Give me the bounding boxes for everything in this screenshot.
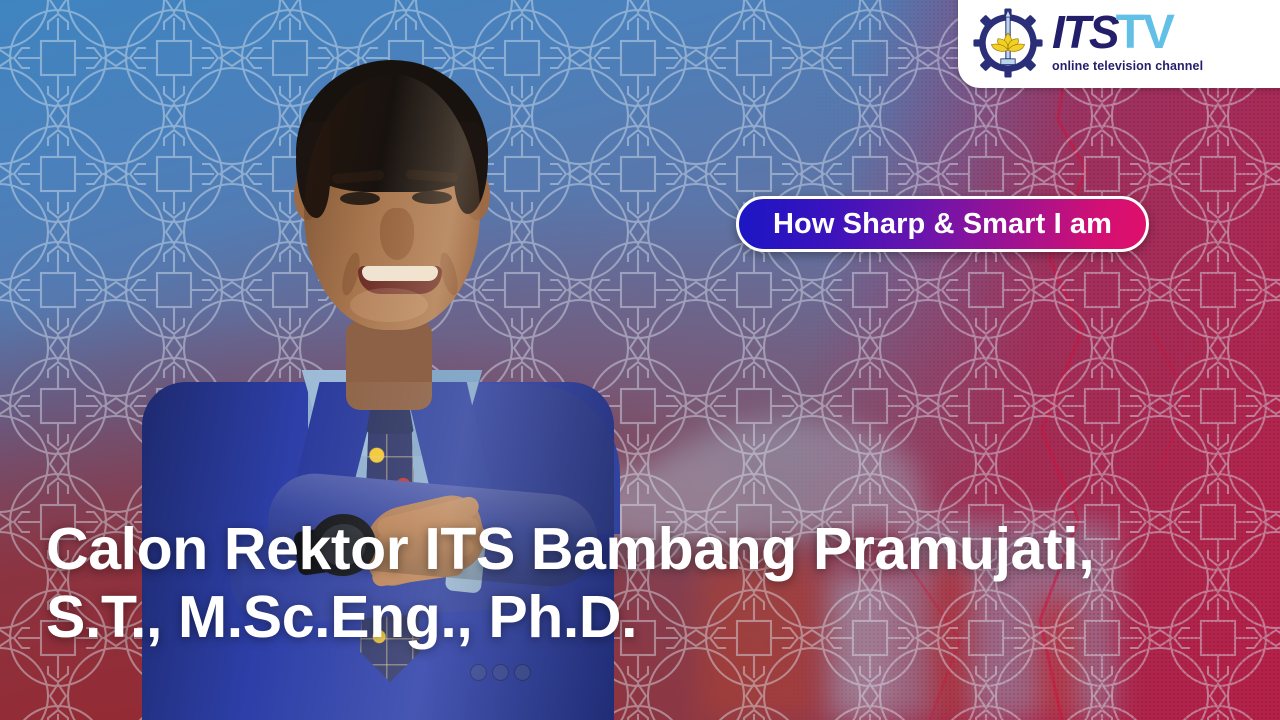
headline-badge: How Sharp & Smart I am: [736, 196, 1149, 252]
its-gear-lotus-emblem: [972, 7, 1044, 79]
logo-its-text: ITS: [1052, 9, 1118, 55]
badge-label: How Sharp & Smart I am: [773, 208, 1112, 241]
title-line-2: S.T., M.Sc.Eng., Ph.D.: [46, 584, 1236, 652]
logo-tv-text: TV: [1116, 9, 1173, 57]
title-line-1: Calon Rektor ITS Bambang Pramujati,: [46, 516, 1236, 584]
logo-tagline: online television channel: [1052, 60, 1203, 73]
thumbnail-canvas: How Sharp & Smart I am: [0, 0, 1280, 720]
channel-logo-panel: ITS TV online television channel: [958, 0, 1280, 88]
logo-wordmark: ITS TV online television channel: [1052, 9, 1203, 73]
page-title: Calon Rektor ITS Bambang Pramujati, S.T.…: [46, 516, 1236, 652]
